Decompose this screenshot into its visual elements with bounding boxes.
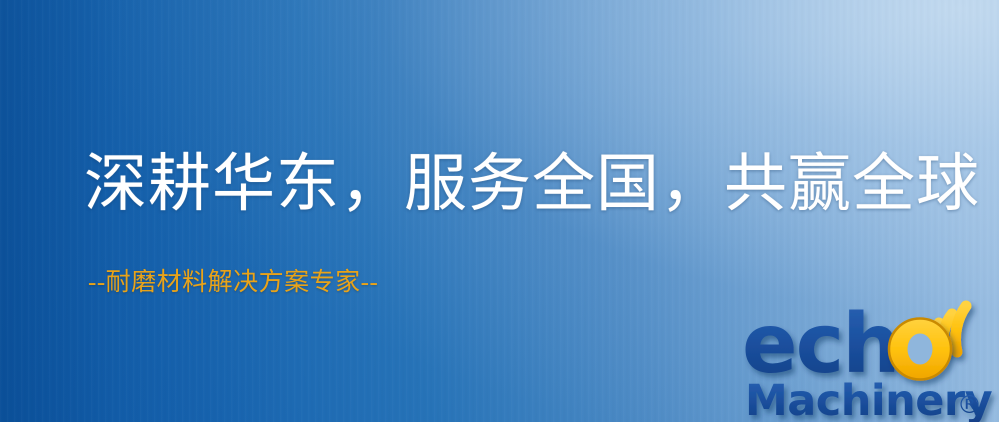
logo-artwork: ech Machinery ®	[742, 288, 999, 422]
svg-text:Machinery: Machinery	[745, 376, 993, 422]
promo-banner: 深耕华东，服务全国，共赢全球 --耐磨材料解决方案专家--	[0, 0, 999, 422]
banner-headline: 深耕华东，服务全国，共赢全球	[84, 151, 980, 218]
banner-subtitle: --耐磨材料解决方案专家--	[88, 268, 378, 298]
logo-accent-letter-o	[889, 319, 951, 380]
echo-machinery-logo[interactable]: ech Machinery ®	[742, 288, 999, 422]
logo-tagline: Machinery ®	[745, 376, 993, 422]
svg-text:®: ®	[957, 390, 982, 419]
